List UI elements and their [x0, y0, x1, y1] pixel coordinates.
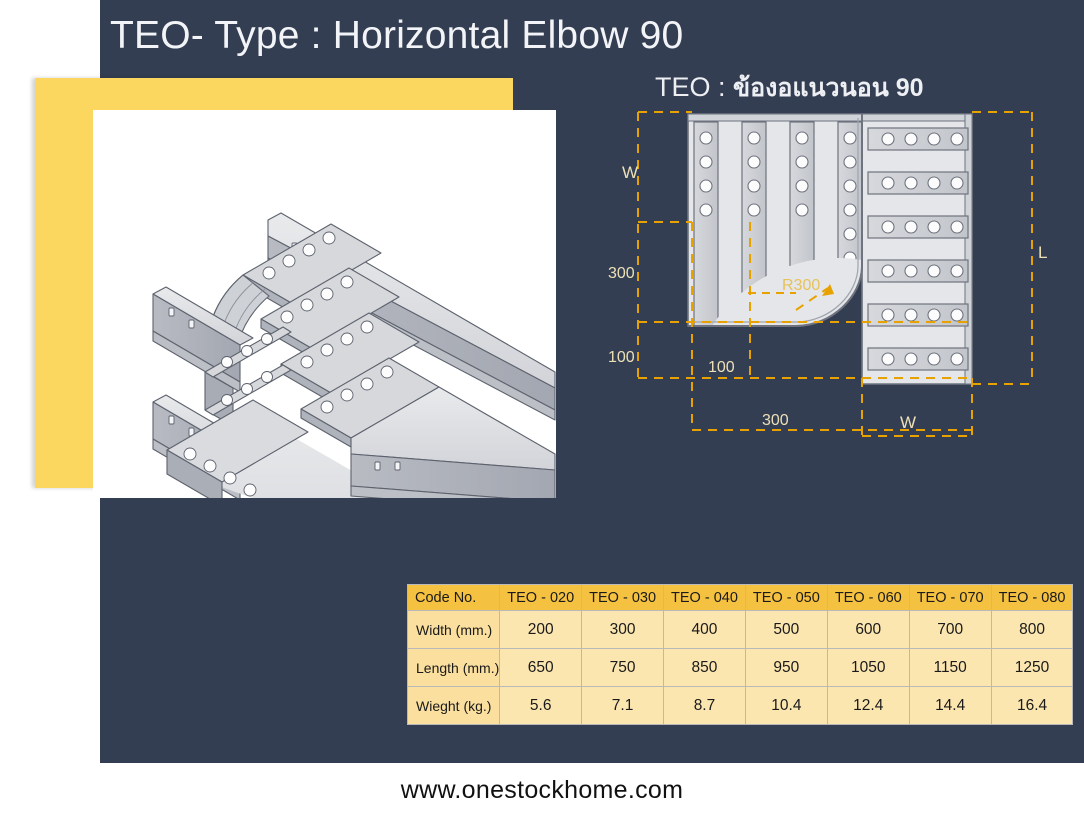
- table-header-teo-020: TEO - 020: [500, 585, 582, 611]
- page-title: TEO- Type : Horizontal Elbow 90: [110, 14, 683, 58]
- cell-weight-040: 8.7: [664, 687, 746, 725]
- cell-length-020: 650: [500, 649, 582, 687]
- technical-drawing: W 300 100 100 300 W L R300: [600, 100, 1070, 450]
- dim-label-l-right: L: [1038, 243, 1047, 262]
- cell-width-060: 600: [827, 611, 909, 649]
- cell-length-050: 950: [745, 649, 827, 687]
- dim-label-w-bottom: W: [900, 413, 916, 432]
- dim-label-300-horizontal: 300: [762, 412, 789, 429]
- cell-length-070: 1150: [909, 649, 991, 687]
- cell-width-080: 800: [991, 611, 1073, 649]
- row-label-length: Length (mm.): [408, 649, 500, 687]
- product-isometric-image: [93, 110, 556, 498]
- cell-width-050: 500: [745, 611, 827, 649]
- row-label-width: Width (mm.): [408, 611, 500, 649]
- cell-length-060: 1050: [827, 649, 909, 687]
- table-header-teo-060: TEO - 060: [827, 585, 909, 611]
- cell-weight-080: 16.4: [991, 687, 1073, 725]
- cell-weight-060: 12.4: [827, 687, 909, 725]
- subtitle-thai-text: ข้องอแนวนอน 90: [733, 74, 924, 102]
- table-header-teo-030: TEO - 030: [582, 585, 664, 611]
- dim-label-r300: R300: [782, 277, 820, 294]
- cell-length-040: 850: [664, 649, 746, 687]
- cell-weight-030: 7.1: [582, 687, 664, 725]
- table-header-teo-050: TEO - 050: [745, 585, 827, 611]
- table-header-code-no: Code No.: [408, 585, 500, 611]
- dim-label-100-vertical: 100: [608, 349, 635, 366]
- dim-label-100-horizontal: 100: [708, 359, 735, 376]
- cell-width-040: 400: [664, 611, 746, 649]
- table-header-teo-070: TEO - 070: [909, 585, 991, 611]
- table-header-teo-080: TEO - 080: [991, 585, 1073, 611]
- footer-website-url[interactable]: www.onestockhome.com: [0, 776, 1084, 805]
- table-header-row: Code No. TEO - 020 TEO - 030 TEO - 040 T…: [408, 585, 1073, 611]
- cell-weight-020: 5.6: [500, 687, 582, 725]
- cell-weight-070: 14.4: [909, 687, 991, 725]
- cell-length-080: 1250: [991, 649, 1073, 687]
- cell-width-030: 300: [582, 611, 664, 649]
- table-row: Wieght (kg.) 5.6 7.1 8.7 10.4 12.4 14.4 …: [408, 687, 1073, 725]
- specification-table: Code No. TEO - 020 TEO - 030 TEO - 040 T…: [407, 584, 1073, 725]
- dim-label-300-vertical: 300: [608, 265, 635, 282]
- datasheet-page: TEO- Type : Horizontal Elbow 90 TEO : ข้…: [0, 0, 1084, 817]
- row-label-weight: Wieght (kg.): [408, 687, 500, 725]
- cell-length-030: 750: [582, 649, 664, 687]
- cell-width-020: 200: [500, 611, 582, 649]
- cell-weight-050: 10.4: [745, 687, 827, 725]
- dim-label-w-left: W: [622, 163, 638, 182]
- subtitle-code: TEO :: [655, 72, 726, 102]
- product-photo-panel: [93, 110, 556, 498]
- table-row: Width (mm.) 200 300 400 500 600 700 800: [408, 611, 1073, 649]
- table-row: Length (mm.) 650 750 850 950 1050 1150 1…: [408, 649, 1073, 687]
- table-header-teo-040: TEO - 040: [664, 585, 746, 611]
- cell-width-070: 700: [909, 611, 991, 649]
